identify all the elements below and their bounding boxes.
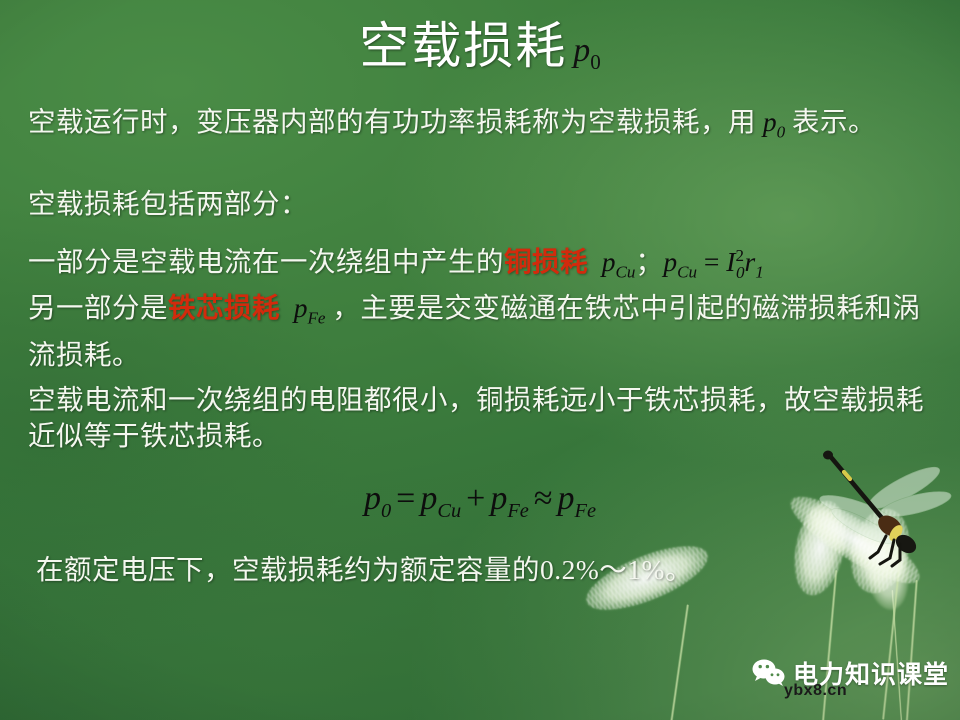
- p5-text: 空载电流和一次绕组的电阻都很小，铜损耗远小于铁芯损耗，故空载损耗近似等于铁芯损耗…: [28, 384, 924, 451]
- formula-no-load-loss: p0=pCu+pFe≈pFe: [0, 480, 960, 523]
- p4-part-a: 另一部分是: [28, 292, 168, 323]
- p1-part-b: 表示。: [792, 106, 876, 137]
- p1-symbol-p0: p0: [756, 106, 792, 137]
- p3-semicolon: ；: [635, 246, 663, 277]
- p3-symbol-pcu-1: pCu: [588, 246, 635, 277]
- watermark: 电力知识课堂: [752, 655, 949, 691]
- title-symbol: p0: [567, 32, 601, 69]
- p3-highlight-copper-loss: 铜损耗: [504, 246, 588, 277]
- paragraph-approximation: 空载电流和一次绕组的电阻都很小，铜损耗远小于铁芯损耗，故空载损耗近似等于铁芯损耗…: [28, 382, 940, 454]
- slide-canvas: 空载损耗p0 空载运行时，变压器内部的有功功率损耗称为空载损耗，用 p0 表示。…: [0, 0, 960, 720]
- p2-text: 空载损耗包括两部分：: [28, 188, 308, 219]
- p4-symbol-pfe: pFe: [280, 292, 332, 323]
- p1-part-a: 空载运行时，变压器内部的有功功率损耗称为空载损耗，用: [28, 106, 756, 137]
- wechat-icon: [752, 658, 786, 688]
- p6-text: 在额定电压下，空载损耗约为额定容量的0.2%～1%。: [36, 554, 693, 585]
- p4-highlight-iron-loss: 铁芯损耗: [168, 292, 280, 323]
- p3-equation-pcu: pCu = I20r1: [663, 246, 763, 277]
- page-title: 空载损耗p0: [0, 18, 960, 74]
- watermark-url: ybx8.cn: [784, 682, 847, 700]
- paragraph-rated-voltage: 在额定电压下，空载损耗约为额定容量的0.2%～1%。: [36, 552, 948, 588]
- title-text: 空载损耗: [359, 18, 567, 74]
- paragraph-two-parts-heading: 空载损耗包括两部分：: [28, 186, 940, 222]
- p3-part-a: 一部分是空载电流在一次绕组中产生的: [28, 246, 504, 277]
- paragraph-copper-loss: 一部分是空载电流在一次绕组中产生的铜损耗 pCu；pCu = I20r1: [28, 238, 940, 291]
- paragraph-iron-loss: 另一部分是铁芯损耗 pFe ，主要是交变磁通在铁芯中引起的磁滞损耗和涡流损耗。: [28, 290, 940, 373]
- paragraph-definition: 空载运行时，变压器内部的有功功率损耗称为空载损耗，用 p0 表示。: [28, 104, 940, 151]
